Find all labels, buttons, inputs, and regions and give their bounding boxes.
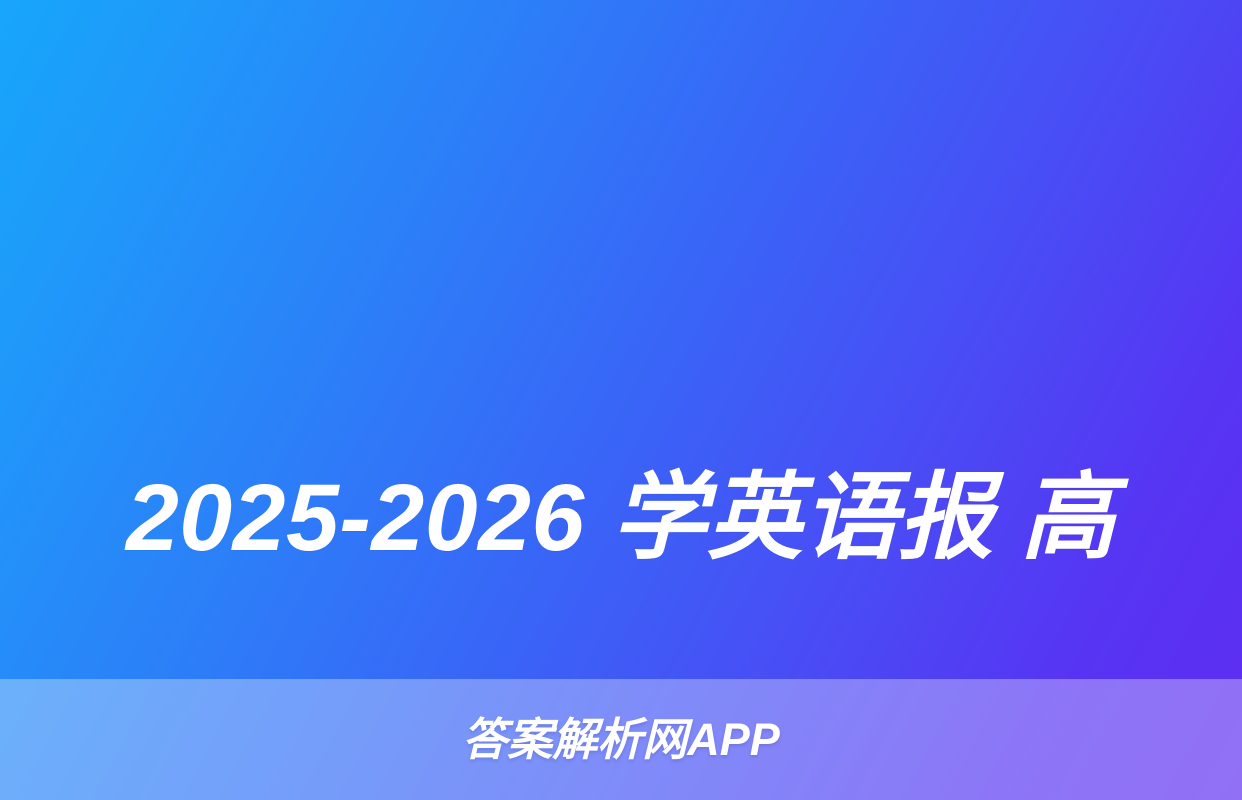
share-card: 2025-2026 学英语报 高 二 新课程课标基础 第5 期答案 答案解析网A… <box>0 0 1242 800</box>
app-brand-label: 答案解析网APP <box>462 717 780 762</box>
title-line-1: 2025-2026 学英语报 高 <box>46 448 1196 588</box>
watermark-bar: 答案解析网APP <box>0 679 1242 800</box>
